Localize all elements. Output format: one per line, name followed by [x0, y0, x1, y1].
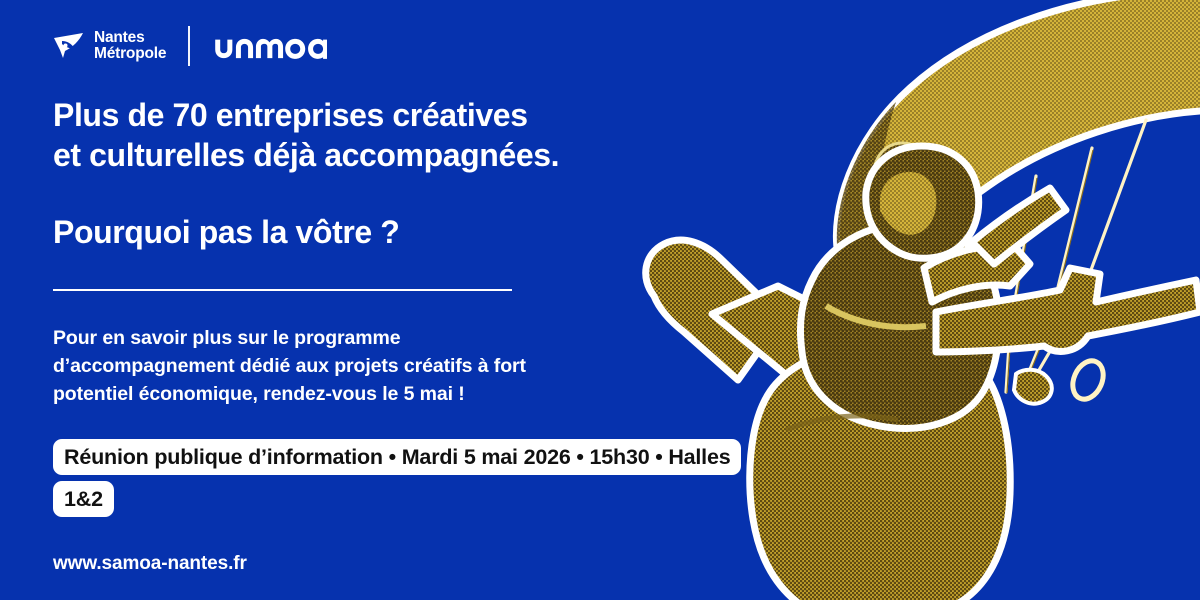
logo-bar: Nantes Métropole — [53, 26, 327, 66]
body-line-2: d’accompagnement dédié aux projets créat… — [53, 353, 753, 381]
horizontal-rule — [53, 289, 512, 291]
nantes-metropole-wordmark: Nantes Métropole — [94, 30, 166, 62]
event-info-badge: Réunion publique d’information • Mardi 5… — [53, 439, 741, 517]
nm-line1: Nantes — [94, 30, 166, 46]
parachute-lines — [856, 120, 1146, 398]
headline-line-2: et culturelles déjà accompagnées. — [53, 136, 753, 176]
website-url[interactable]: www.samoa-nantes.fr — [53, 553, 753, 575]
body-copy: Pour en savoir plus sur le programme d’a… — [53, 325, 753, 408]
event-badge-wrapper: Réunion publique d’information • Mardi 5… — [53, 437, 753, 521]
logo-divider — [188, 26, 190, 66]
body-line-1: Pour en savoir plus sur le programme — [53, 325, 753, 353]
nm-line2: Métropole — [94, 46, 166, 62]
parachute-canopy — [836, 0, 1200, 278]
samoa-wordmark[interactable] — [212, 31, 327, 61]
page-title: Plus de 70 entreprises créatives et cult… — [53, 96, 753, 175]
parachute-lines-shadow — [857, 150, 1093, 397]
nantes-metropole-logo[interactable]: Nantes Métropole — [53, 30, 166, 62]
poster-content: Plus de 70 entreprises créatives et cult… — [53, 96, 753, 575]
subheadline: Pourquoi pas la vôtre ? — [53, 214, 753, 251]
poster-canvas: Nantes Métropole Plus de 70 entrepris — [0, 0, 1200, 600]
nantes-metropole-mark — [53, 31, 87, 61]
riser-hardware — [998, 231, 1109, 404]
headline-line-1: Plus de 70 entreprises créatives — [53, 96, 753, 136]
body-line-3: potentiel économique, rendez-vous le 5 m… — [53, 381, 753, 409]
